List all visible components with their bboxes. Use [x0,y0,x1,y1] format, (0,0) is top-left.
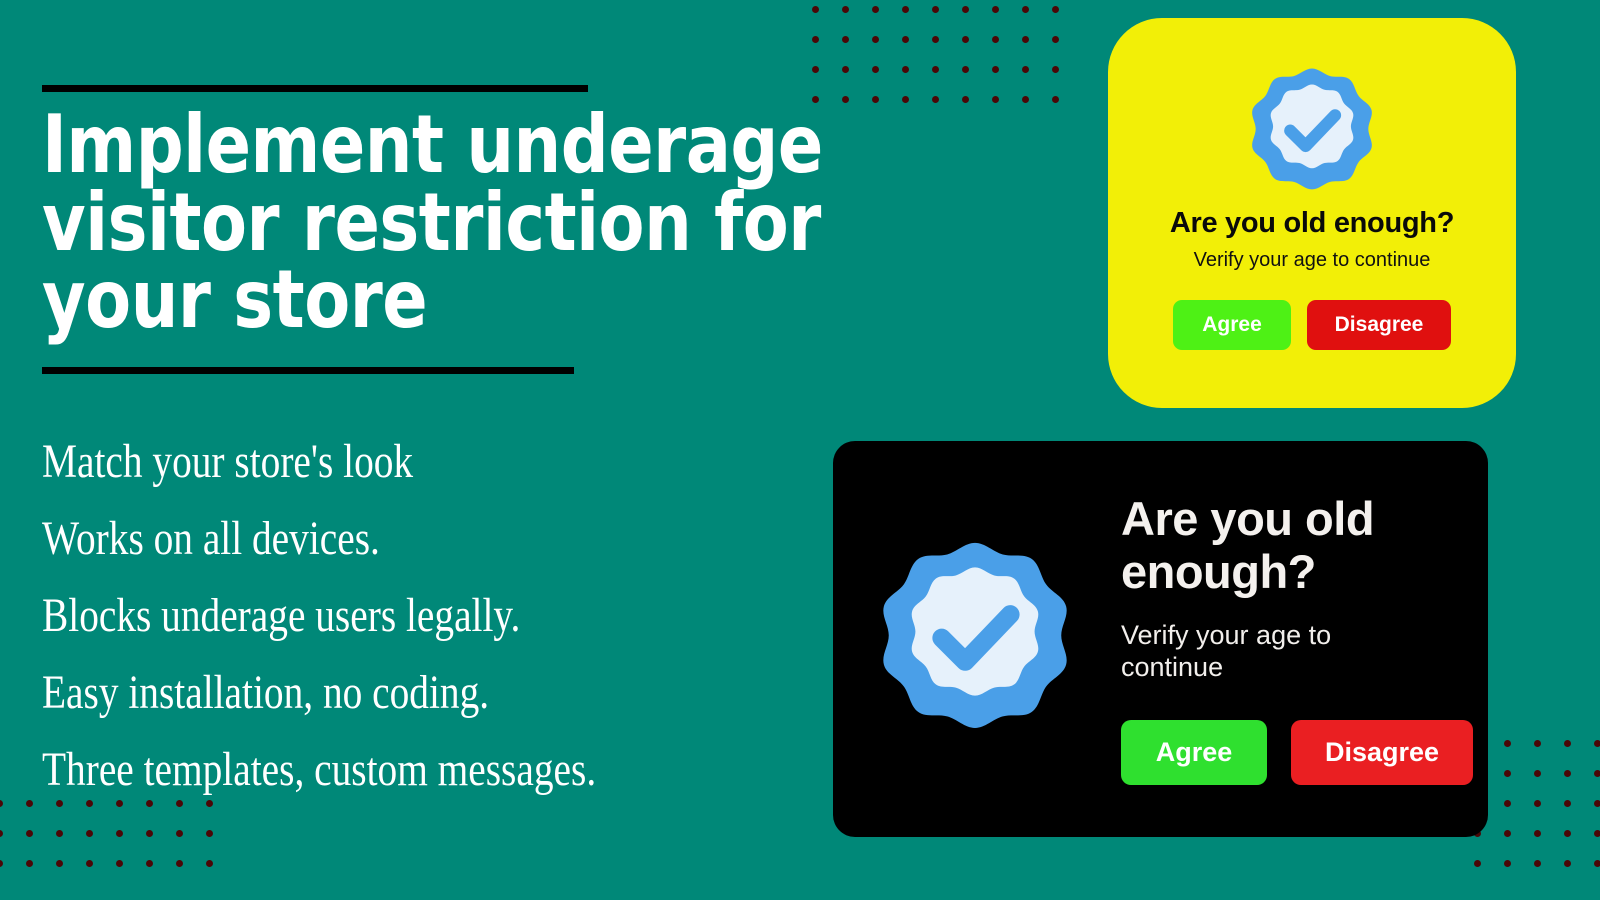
decor-dot [1594,860,1600,867]
decor-dot [1504,770,1511,777]
disagree-button[interactable]: Disagree [1307,300,1451,350]
age-gate-preview-card-dark: Are you old enough? Verify your age to c… [833,441,1488,837]
verified-badge-check-icon [1248,66,1376,199]
decor-dot [1594,770,1600,777]
decor-dot [26,860,33,867]
headline-rule-bottom [42,367,574,374]
decor-dot [1534,740,1541,747]
yellow-card-actions: Agree Disagree [1173,300,1451,350]
decor-dot [1534,860,1541,867]
yellow-card-title: Are you old enough? [1170,207,1454,240]
decor-dot [1534,830,1541,837]
headline-rule-top [42,85,588,92]
decor-dot [1534,800,1541,807]
dark-card-subtitle: Verify your age to continue [1121,620,1381,684]
dark-card-actions: Agree Disagree [1121,720,1473,785]
decor-dot [1564,800,1571,807]
feature-list-item: Works on all devices. [42,515,878,563]
yellow-card-subtitle: Verify your age to continue [1194,249,1431,272]
decor-dot [1564,830,1571,837]
decor-dot [1594,830,1600,837]
dot-grid-bottom-right [1474,740,1600,890]
decor-dot [1504,860,1511,867]
decor-dot [1504,800,1511,807]
decor-dot [1504,740,1511,747]
feature-list-item: Three templates, custom messages. [42,746,878,794]
decor-dot [26,800,33,807]
decor-dot [1564,740,1571,747]
decor-dot [1564,770,1571,777]
decor-dot [1474,860,1481,867]
decor-dot [0,800,3,807]
feature-list-item: Easy installation, no coding. [42,669,878,717]
disagree-button[interactable]: Disagree [1291,720,1473,785]
dark-card-content: Are you old enough? Verify your age to c… [1121,493,1473,785]
decor-dot [1594,740,1600,747]
feature-list-item: Match your store's look [42,438,878,486]
dark-card-title: Are you old enough? [1121,493,1421,598]
agree-button[interactable]: Agree [1121,720,1267,785]
decor-dot [0,830,3,837]
verified-badge-check-icon [877,539,1073,740]
page-title: Implement underage visitor restriction f… [42,106,981,339]
decor-dot [1504,830,1511,837]
decor-dot [1564,860,1571,867]
decor-dot [1534,770,1541,777]
agree-button[interactable]: Agree [1173,300,1291,350]
feature-list-item: Blocks underage users legally. [42,592,878,640]
decor-dot [0,860,3,867]
decor-dot [26,830,33,837]
age-gate-preview-card-yellow: Are you old enough? Verify your age to c… [1108,18,1516,408]
decor-dot [1594,800,1600,807]
